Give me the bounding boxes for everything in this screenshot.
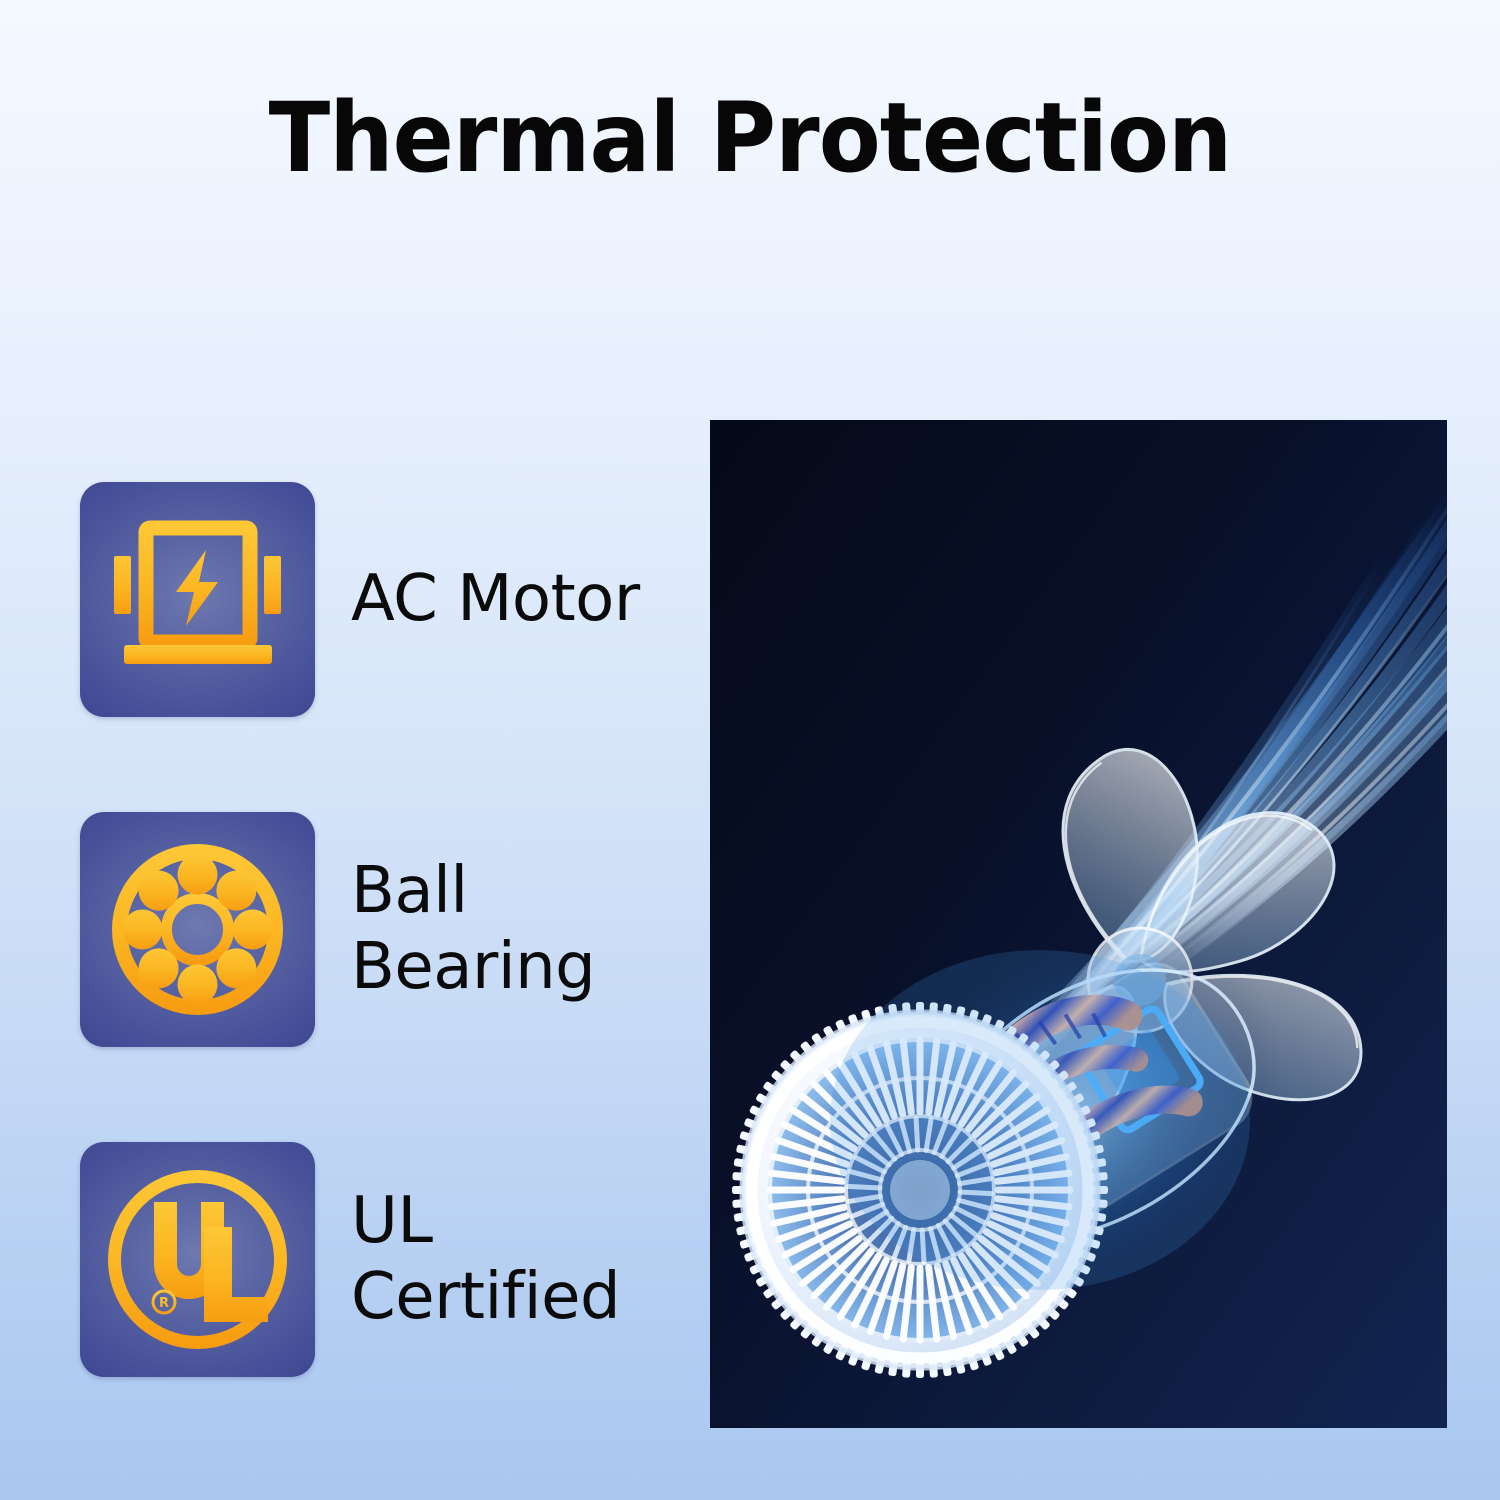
ac-motor-icon	[80, 482, 315, 717]
fan-motor-airflow-photo	[710, 420, 1447, 1428]
feature-item-ball-bearing: Ball Bearing	[80, 812, 700, 1047]
ball-bearing-icon	[80, 812, 315, 1047]
infographic-page: Thermal Protection	[0, 0, 1500, 1500]
feature-badge	[80, 482, 315, 717]
svg-text:R: R	[159, 1296, 169, 1311]
page-title: Thermal Protection	[45, 88, 1455, 189]
feature-label: UL Certified	[351, 1184, 620, 1335]
feature-list: AC Motor	[80, 482, 700, 1377]
feature-badge: R	[80, 1142, 315, 1377]
feature-badge	[80, 812, 315, 1047]
feature-label: AC Motor	[351, 562, 640, 638]
fan-motor-illustration	[710, 420, 1447, 1428]
feature-item-ul-certified: R UL Certified	[80, 1142, 700, 1377]
feature-item-ac-motor: AC Motor	[80, 482, 700, 717]
ul-certified-icon: R	[80, 1142, 315, 1377]
feature-label: Ball Bearing	[351, 854, 595, 1005]
